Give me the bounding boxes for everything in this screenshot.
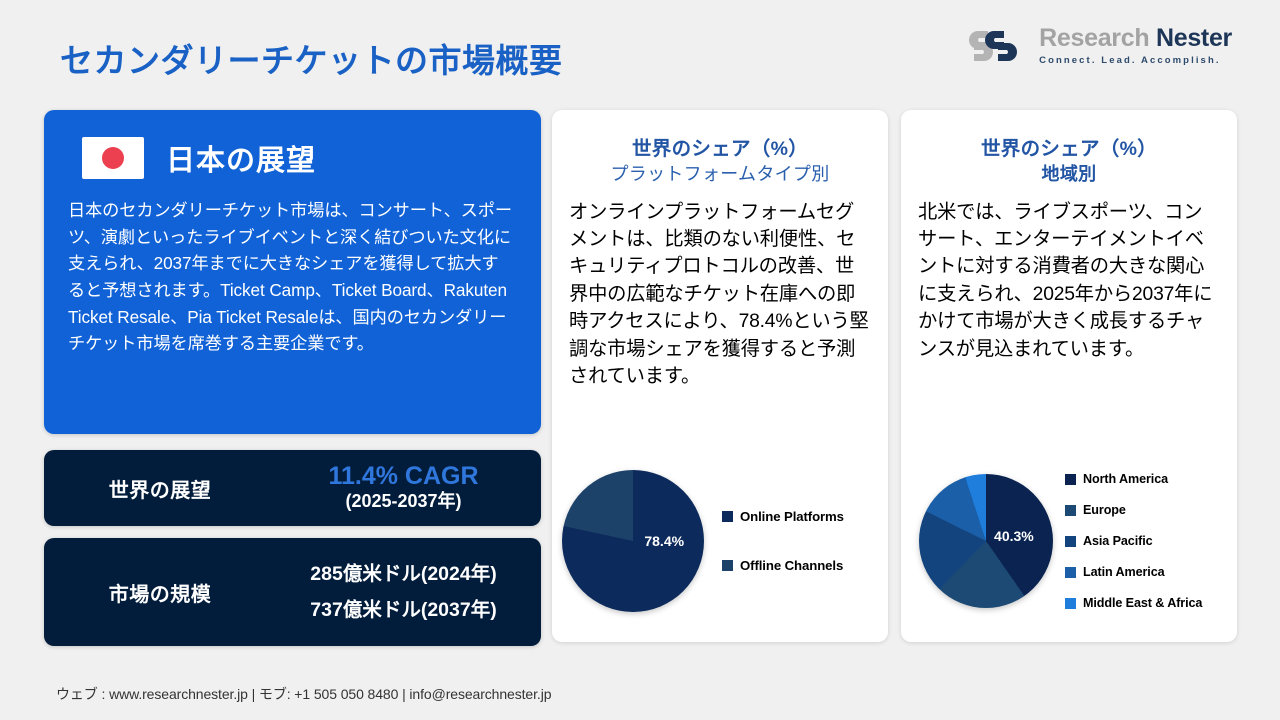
legend-swatch-icon [1065,567,1076,578]
legend-item: Europe [1065,503,1237,517]
region-share-chart: 40.3% North AmericaEuropeAsia PacificLat… [901,446,1237,636]
market-size-label: 市場の規模 [44,578,276,607]
japan-card-header: 日本の展望 [44,110,541,179]
legend-swatch-icon [722,560,733,571]
region-pie-legend: North AmericaEuropeAsia PacificLatin Ame… [1053,472,1237,610]
logo-name-research: Research [1039,24,1149,52]
japan-card-body: 日本のセカンダリーチケット市場は、コンサート、スポーツ、演劇といったライブイベン… [44,179,541,357]
market-size-2024: 285億米ドル(2024年) [276,556,531,592]
legend-item: Middle East & Africa [1065,596,1237,610]
region-share-heading-line1: 世界のシェア（%） [901,136,1237,162]
legend-swatch-icon [1065,536,1076,547]
legend-item: Offline Channels [722,558,888,573]
platform-pie-chart: 78.4% [562,470,704,612]
legend-swatch-icon [1065,474,1076,485]
legend-swatch-icon [1065,598,1076,609]
legend-item: Latin America [1065,565,1237,579]
japan-card-title: 日本の展望 [166,137,316,179]
research-nester-logo: Research Nester Connect. Lead. Accomplis… [968,26,1232,66]
legend-label: Offline Channels [740,558,843,573]
market-size-values: 285億米ドル(2024年) 737億米ドル(2037年) [276,556,541,628]
cagr-value: 11.4% CAGR [276,463,531,490]
region-share-body: 北米では、ライブスポーツ、コンサート、エンターテイメントイベントに対する消費者の… [901,187,1237,363]
legend-item: North America [1065,472,1237,486]
market-size-2037: 737億米ドル(2037年) [276,592,531,628]
region-share-card: 世界のシェア（%） 地域別 北米では、ライブスポーツ、コンサート、エンターテイメ… [901,110,1237,642]
footer-contact: ウェブ : www.researchnester.jp | モブ: +1 505… [56,684,551,704]
legend-swatch-icon [722,511,733,522]
platform-share-heading-line1: 世界のシェア（%） [552,136,888,162]
region-share-heading: 世界のシェア（%） 地域別 [901,110,1237,187]
global-outlook-stat-card: 世界の展望 11.4% CAGR (2025-2037年) [44,450,541,526]
page-title: セカンダリーチケットの市場概要 [60,34,563,82]
platform-share-chart: 78.4% Online PlatformsOffline Channels [552,446,888,636]
page-header: セカンダリーチケットの市場概要 Research Nester Connect.… [0,0,1280,100]
market-size-stat-card: 市場の規模 285億米ドル(2024年) 737億米ドル(2037年) [44,538,541,646]
legend-label: Asia Pacific [1083,534,1153,548]
region-share-heading-line2: 地域別 [901,162,1237,186]
platform-pie-data-label: 78.4% [644,533,684,549]
platform-share-card: 世界のシェア（%） プラットフォームタイプ別 オンラインプラットフォームセグメン… [552,110,888,642]
logo-mark-icon [968,27,1030,65]
platform-share-heading: 世界のシェア（%） プラットフォームタイプ別 [552,110,888,187]
logo-name-nester: Nester [1156,24,1232,52]
legend-label: Online Platforms [740,509,844,524]
platform-pie-legend: Online PlatformsOffline Channels [704,509,888,573]
logo-tagline: Connect. Lead. Accomplish. [1039,56,1232,66]
legend-item: Online Platforms [722,509,888,524]
japan-flag-icon [82,137,144,179]
legend-item: Asia Pacific [1065,534,1237,548]
region-pie-data-label: 40.3% [994,528,1034,544]
region-pie-chart: 40.3% [919,474,1053,608]
japan-outlook-card: 日本の展望 日本のセカンダリーチケット市場は、コンサート、スポーツ、演劇といった… [44,110,541,434]
platform-share-body: オンラインプラットフォームセグメントは、比類のない利便性、セキュリティプロトコル… [552,187,888,391]
legend-label: North America [1083,472,1168,486]
legend-label: Europe [1083,503,1126,517]
global-outlook-label: 世界の展望 [44,474,276,503]
legend-label: Latin America [1083,565,1165,579]
platform-share-heading-line2: プラットフォームタイプ別 [552,162,888,186]
japan-flag-sun [102,147,124,169]
cagr-period: (2025-2037年) [276,490,531,513]
global-outlook-values: 11.4% CAGR (2025-2037年) [276,463,541,513]
legend-label: Middle East & Africa [1083,596,1202,610]
legend-swatch-icon [1065,505,1076,516]
